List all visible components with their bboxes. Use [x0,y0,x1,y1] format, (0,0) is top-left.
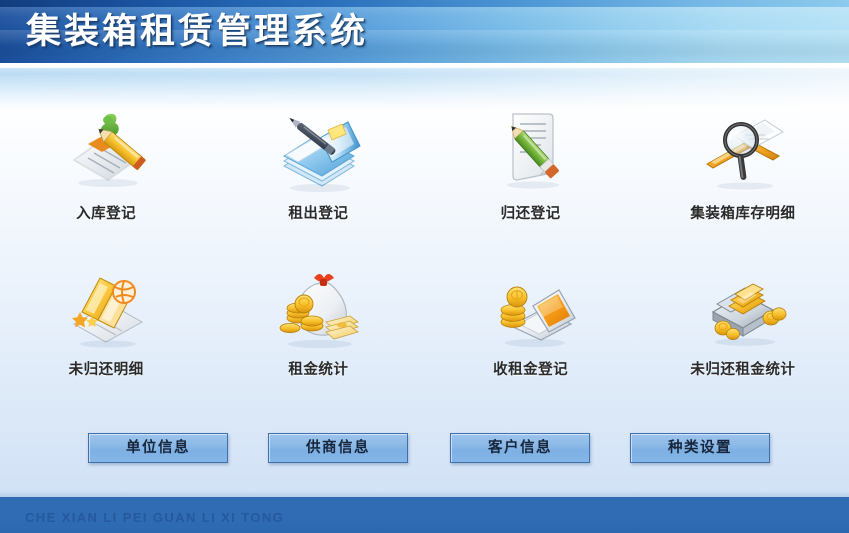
menu-item-unreturned-rent-statistics[interactable]: 未归还租金统计 [637,252,849,408]
menu-item-label: 未归还租金统计 [690,358,795,379]
money-bag-coins-icon [270,256,366,352]
app-header: 集装箱租赁管理系统 [0,0,849,63]
header-top-accent-line [0,0,849,7]
menu-item-label: 收租金登记 [493,358,568,379]
menu-item-unreturned-detail[interactable]: 未归还明细 [0,252,212,408]
menu-item-inbound-registration[interactable]: 入库登记 [0,96,212,252]
secondary-button-row: 单位信息 供商信息 客户信息 种类设置 [0,433,849,467]
menu-item-rent-statistics[interactable]: 租金统计 [212,252,424,408]
note-green-pencil-icon [483,100,579,196]
app-window: 集装箱租赁管理系统 [0,0,849,533]
menu-item-label: 归还登记 [501,202,561,223]
menu-item-return-registration[interactable]: 归还登记 [425,96,637,252]
laptop-coins-icon [483,256,579,352]
menu-item-rentout-registration[interactable]: 租出登记 [212,96,424,252]
unit-info-button[interactable]: 单位信息 [88,433,228,463]
menu-item-label: 未归还明细 [69,358,144,379]
footer-pinyin-text: CHE XIAN LI PEI GUAN LI XI TONG [25,510,284,525]
menu-item-container-inventory-detail[interactable]: 集装箱库存明细 [637,96,849,252]
gold-box-coins-icon [695,256,791,352]
menu-item-label: 租出登记 [288,202,348,223]
menu-item-label: 集装箱库存明细 [690,202,795,223]
magnifier-book-icon [695,100,791,196]
footer-top-edge [0,491,849,497]
blue-notebook-pen-icon [270,100,366,196]
menu-item-rent-collection-registration[interactable]: 收租金登记 [425,252,637,408]
category-settings-button[interactable]: 种类设置 [630,433,770,463]
menu-item-label: 入库登记 [76,202,136,223]
yellow-book-star-icon [58,256,154,352]
app-footer: CHE XIAN LI PEI GUAN LI XI TONG [0,497,849,533]
page-title: 集装箱租赁管理系统 [26,7,368,57]
supplier-info-button[interactable]: 供商信息 [268,433,408,463]
document-pencil-plant-icon [58,100,154,196]
main-menu-grid: 入库登记 [0,96,849,408]
menu-item-label: 租金统计 [288,358,348,379]
customer-info-button[interactable]: 客户信息 [450,433,590,463]
